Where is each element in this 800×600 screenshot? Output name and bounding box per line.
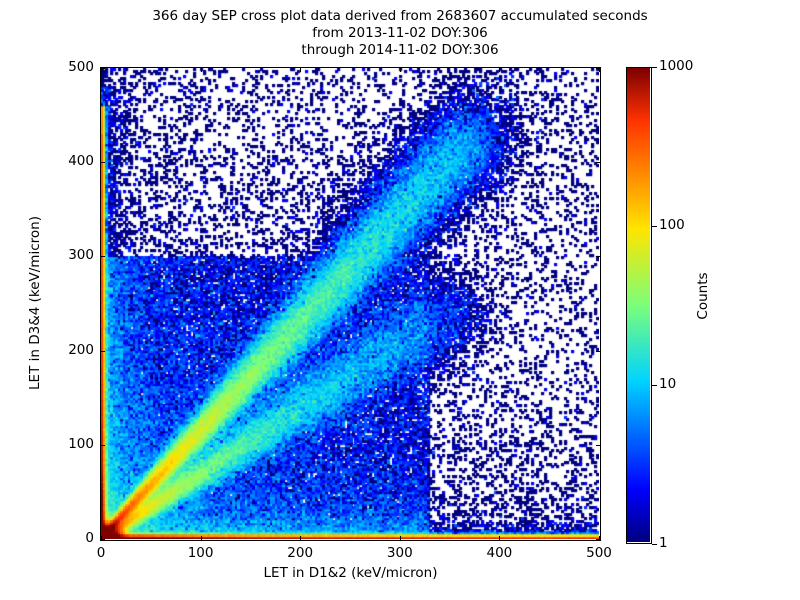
y-tick-label-500: 500 xyxy=(46,59,94,75)
y-tick-label-100: 100 xyxy=(46,436,94,452)
colorbar-tick-1 xyxy=(652,544,657,545)
y-tick-right-100 xyxy=(596,445,601,446)
y-tick-500 xyxy=(100,68,105,69)
plot-area xyxy=(100,67,601,541)
x-axis-label: LET in D1&2 (keV/micron) xyxy=(100,565,601,581)
y-tick-300 xyxy=(100,256,105,257)
y-tick-right-500 xyxy=(596,68,601,69)
y-tick-label-200: 200 xyxy=(46,342,94,358)
colorbar-tick-10 xyxy=(652,385,657,386)
x-tick-label-300: 300 xyxy=(370,545,430,561)
colorbar-tick-label-1: 1 xyxy=(659,535,668,551)
x-tick-label-200: 200 xyxy=(270,545,330,561)
x-tick-label-500: 500 xyxy=(569,545,629,561)
x-tick-label-100: 100 xyxy=(171,545,231,561)
y-tick-0 xyxy=(100,539,105,540)
colorbar-tick-label-10: 10 xyxy=(659,376,676,392)
colorbar-tick-100 xyxy=(652,226,657,227)
y-tick-right-200 xyxy=(596,351,601,352)
figure-title-line-1: 366 day SEP cross plot data derived from… xyxy=(0,8,800,25)
y-tick-right-300 xyxy=(596,256,601,257)
x-tick-label-0: 0 xyxy=(71,545,131,561)
x-tick-400 xyxy=(499,536,500,541)
y-tick-right-400 xyxy=(596,162,601,163)
y-tick-right-0 xyxy=(596,539,601,540)
y-axis-label: LET in D3&4 (keV/micron) xyxy=(27,193,43,413)
colorbar-tick-1000 xyxy=(652,67,657,68)
figure-root: 366 day SEP cross plot data derived from… xyxy=(0,0,800,600)
y-tick-400 xyxy=(100,162,105,163)
y-tick-label-300: 300 xyxy=(46,247,94,263)
colorbar-gradient xyxy=(627,68,650,542)
x-tick-top-100 xyxy=(201,67,202,72)
figure-title-line-3: through 2014-11-02 DOY:306 xyxy=(0,42,800,59)
x-tick-300 xyxy=(400,536,401,541)
y-tick-label-0: 0 xyxy=(46,530,94,546)
colorbar-tick-label-1000: 1000 xyxy=(659,58,693,74)
x-tick-100 xyxy=(201,536,202,541)
y-tick-100 xyxy=(100,445,105,446)
colorbar-tick-label-100: 100 xyxy=(659,217,685,233)
figure-title: 366 day SEP cross plot data derived from… xyxy=(0,8,800,59)
x-tick-200 xyxy=(300,536,301,541)
scatter-heatmap-canvas xyxy=(101,68,599,539)
x-tick-label-400: 400 xyxy=(469,545,529,561)
y-tick-label-400: 400 xyxy=(46,153,94,169)
y-tick-200 xyxy=(100,351,105,352)
colorbar-label: Counts xyxy=(695,226,711,366)
x-tick-top-300 xyxy=(400,67,401,72)
colorbar xyxy=(626,67,652,544)
x-tick-top-400 xyxy=(499,67,500,72)
figure-title-line-2: from 2013-11-02 DOY:306 xyxy=(0,25,800,42)
x-tick-top-200 xyxy=(300,67,301,72)
